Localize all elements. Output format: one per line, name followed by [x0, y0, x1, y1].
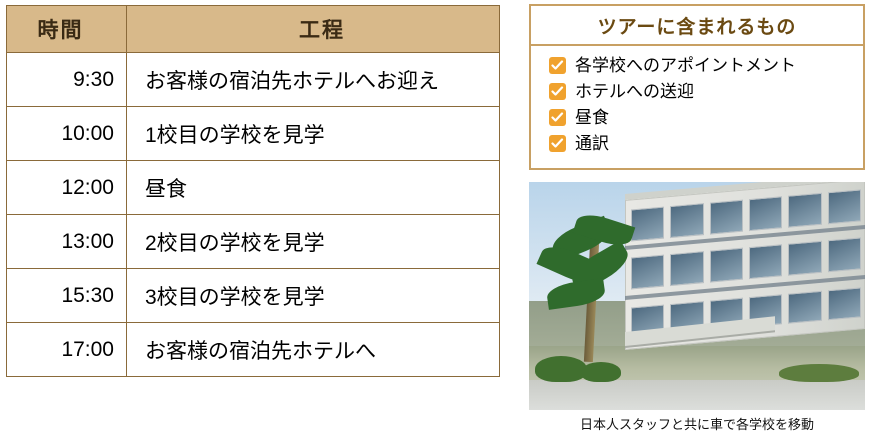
school-building-photo [529, 182, 865, 410]
check-icon [549, 83, 566, 100]
photo-caption: 日本人スタッフと共に車で各学校を移動 [529, 414, 865, 433]
table-row: 12:00 昼食 [7, 161, 500, 215]
column-header-process: 工程 [127, 6, 500, 53]
list-item: 各学校へのアポイントメント [549, 55, 863, 76]
table-row: 13:00 2校目の学校を見学 [7, 215, 500, 269]
tour-inclusions-box: ツアーに含まれるもの 各学校へのアポイントメント ホテルへの送迎 昼食 通訳 [529, 4, 865, 170]
check-icon [549, 135, 566, 152]
table-row: 17:00 お客様の宿泊先ホテルへ [7, 323, 500, 377]
window [788, 241, 821, 276]
schedule-table: 時間 工程 9:30 お客様の宿泊先ホテルへお迎え 10:00 1校目の学校を見… [6, 5, 500, 377]
window [788, 193, 821, 228]
window [670, 251, 703, 286]
list-item: 通訳 [549, 133, 863, 154]
window [749, 244, 782, 279]
cell-process: 2校目の学校を見学 [127, 215, 500, 269]
table-row: 15:30 3校目の学校を見学 [7, 269, 500, 323]
window [710, 248, 743, 283]
check-icon [549, 57, 566, 74]
cell-process: お客様の宿泊先ホテルへお迎え [127, 53, 500, 107]
list-item: 昼食 [549, 107, 863, 128]
table-row: 9:30 お客様の宿泊先ホテルへお迎え [7, 53, 500, 107]
cell-time: 10:00 [7, 107, 127, 161]
window [788, 291, 821, 324]
cell-time: 17:00 [7, 323, 127, 377]
table-header-row: 時間 工程 [7, 6, 500, 53]
cell-time: 9:30 [7, 53, 127, 107]
road-region [529, 380, 865, 410]
list-item: ホテルへの送迎 [549, 81, 863, 102]
list-item-label: 昼食 [575, 107, 609, 128]
window [710, 200, 743, 235]
schedule-table-body: 9:30 お客様の宿泊先ホテルへお迎え 10:00 1校目の学校を見学 12:0… [7, 53, 500, 377]
window [828, 189, 861, 224]
window [749, 196, 782, 231]
window [670, 203, 703, 238]
shrub [535, 356, 587, 382]
schedule-table-head: 時間 工程 [7, 6, 500, 53]
cell-time: 12:00 [7, 161, 127, 215]
photo-container [529, 182, 865, 410]
inclusions-list: 各学校へのアポイントメント ホテルへの送迎 昼食 通訳 [531, 46, 863, 168]
window [828, 237, 861, 272]
shrub [581, 362, 621, 382]
shrub [779, 364, 859, 382]
window [631, 255, 664, 290]
column-header-time: 時間 [7, 6, 127, 53]
cell-process: 昼食 [127, 161, 500, 215]
window [828, 287, 861, 320]
cell-process: 3校目の学校を見学 [127, 269, 500, 323]
list-item-label: ホテルへの送迎 [575, 81, 694, 102]
list-item-label: 各学校へのアポイントメント [575, 55, 796, 76]
cell-process: お客様の宿泊先ホテルへ [127, 323, 500, 377]
list-item-label: 通訳 [575, 133, 609, 154]
table-row: 10:00 1校目の学校を見学 [7, 107, 500, 161]
inclusions-title: ツアーに含まれるもの [531, 6, 863, 46]
window [631, 207, 664, 242]
check-icon [549, 109, 566, 126]
cell-time: 13:00 [7, 215, 127, 269]
cell-time: 15:30 [7, 269, 127, 323]
cell-process: 1校目の学校を見学 [127, 107, 500, 161]
